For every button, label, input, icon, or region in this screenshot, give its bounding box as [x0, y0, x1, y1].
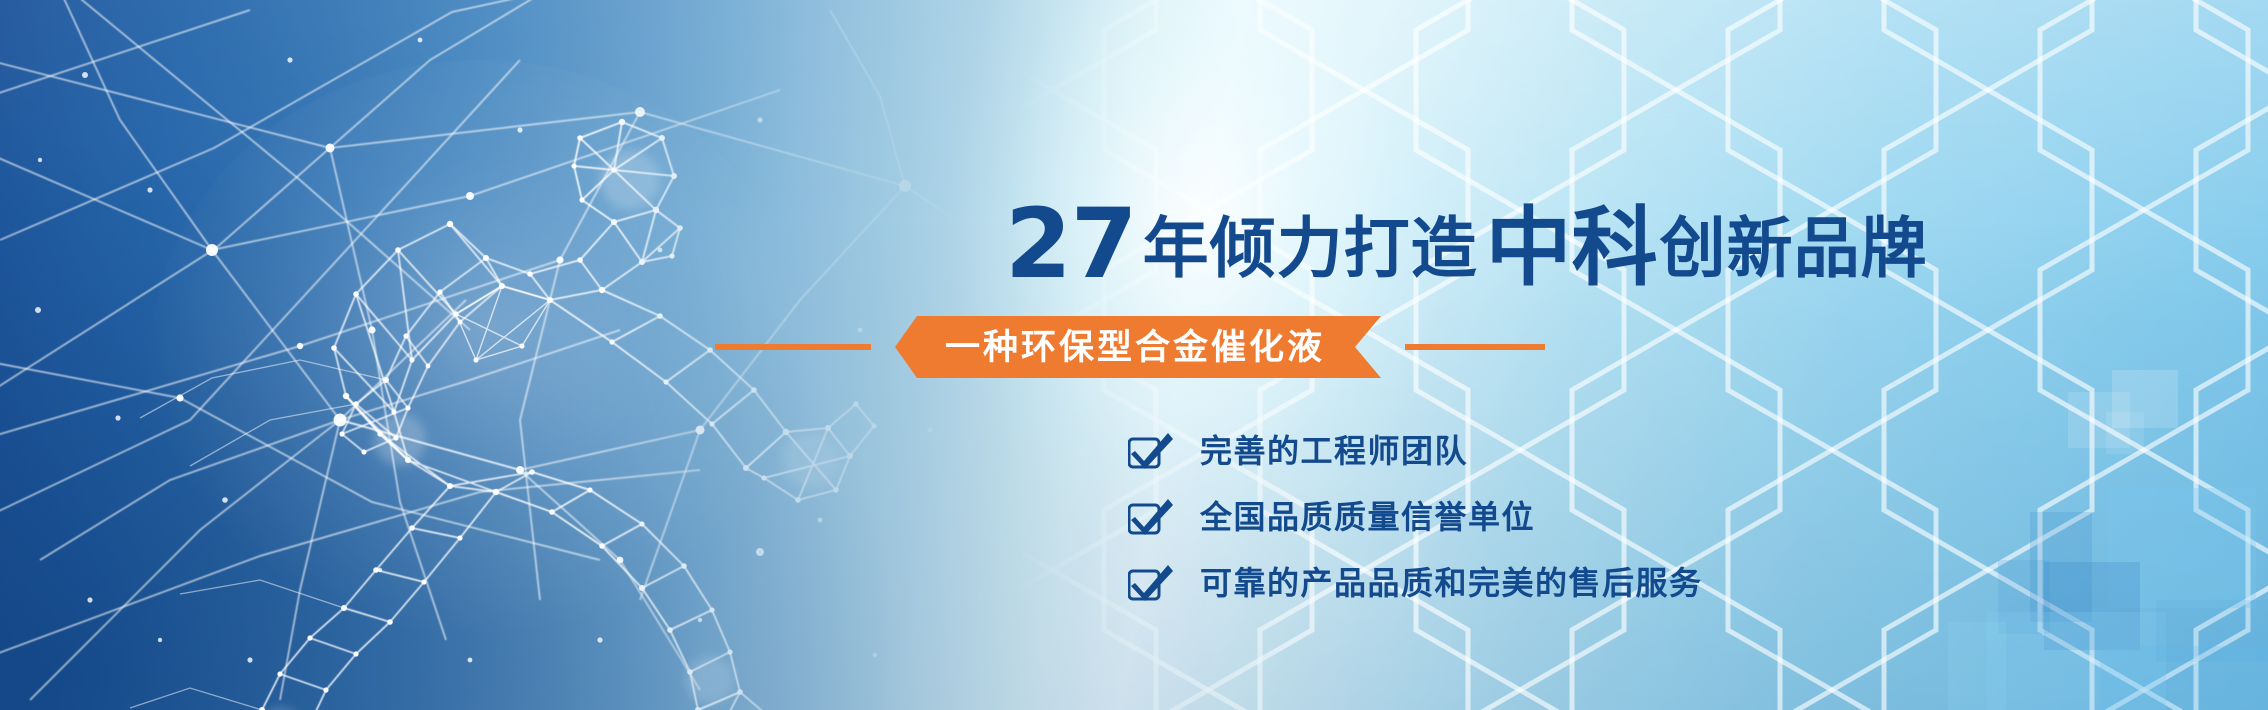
list-item-label: 可靠的产品品质和完美的售后服务 — [1200, 567, 1703, 599]
list-item-label: 完善的工程师团队 — [1200, 435, 1468, 467]
list-item: 全国品质质量信誉单位 — [1128, 494, 1703, 540]
checkbox-checked-icon — [1128, 563, 1174, 603]
page-title: 27年倾力打造中科创新品牌 — [1005, 196, 1928, 292]
promotional-banner: 27年倾力打造中科创新品牌 一种环保型合金催化液 完善的工程师团队 — [0, 0, 2268, 710]
list-item: 可靠的产品品质和完美的售后服务 — [1128, 560, 1703, 606]
headline-emphasis: 中科 — [1486, 200, 1658, 296]
ribbon-line-left — [715, 344, 871, 350]
subtitle-ribbon: 一种环保型合金催化液 — [715, 316, 2105, 378]
feature-list: 完善的工程师团队 全国品质质量信誉单位 可靠 — [1128, 428, 1703, 606]
banner-content: 27年倾力打造中科创新品牌 一种环保型合金催化液 完善的工程师团队 — [1005, 0, 2105, 710]
checkbox-checked-icon — [1128, 497, 1174, 537]
list-item-label: 全国品质质量信誉单位 — [1200, 501, 1535, 533]
checkbox-checked-icon — [1128, 431, 1174, 471]
headline-number: 27 — [1005, 188, 1137, 300]
badge-label: 一种环保型合金催化液 — [945, 330, 1335, 365]
list-item: 完善的工程师团队 — [1128, 428, 1703, 474]
status-badge: 一种环保型合金催化液 — [895, 316, 1381, 378]
ribbon-line-right — [1405, 344, 1545, 350]
headline-segment-1: 年倾力打造 — [1143, 211, 1478, 285]
headline-segment-2: 创新品牌 — [1660, 211, 1928, 285]
